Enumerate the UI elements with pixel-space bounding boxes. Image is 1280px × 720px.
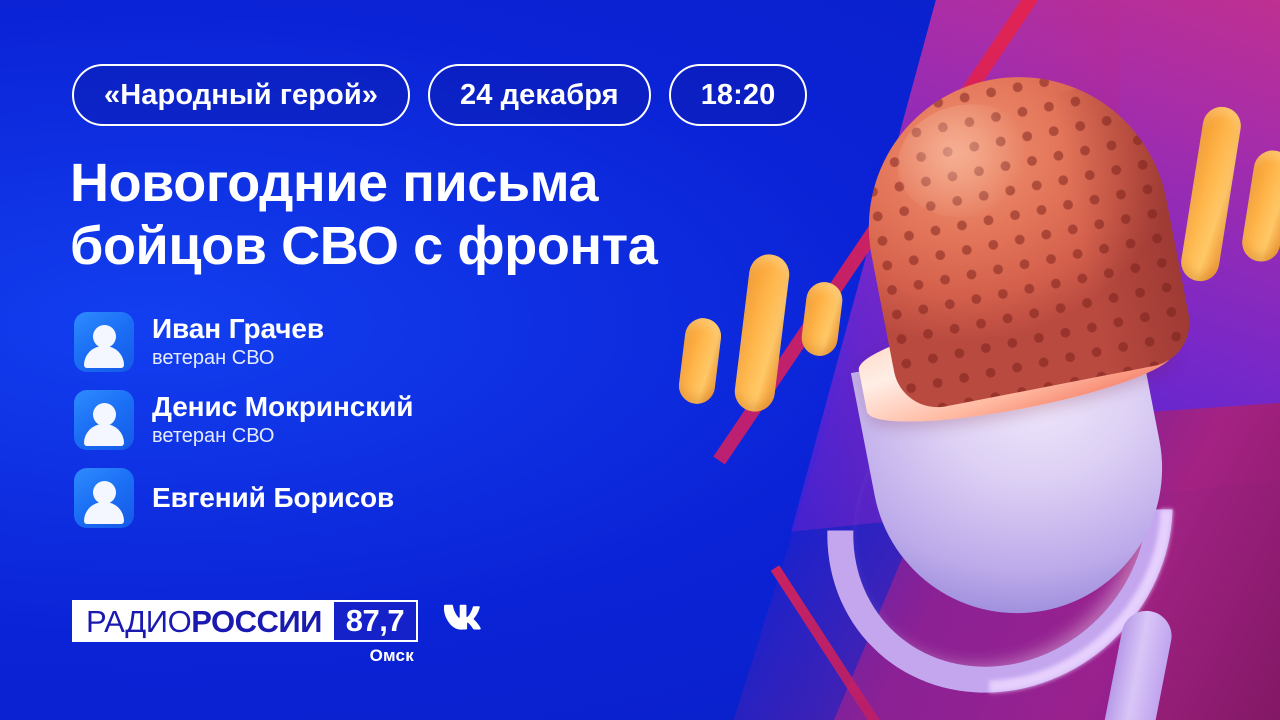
radio-rossii-logo: РАДИОРОССИИ 87,7 Омск	[72, 600, 418, 642]
user-avatar-icon	[74, 468, 134, 528]
logo-frequency: 87,7	[332, 600, 418, 642]
logo-word-bold: РОССИИ	[191, 606, 322, 637]
user-avatar-icon	[74, 390, 134, 450]
logo-city: Омск	[370, 646, 414, 666]
avatar-torso	[84, 502, 124, 524]
vk-icon[interactable]	[444, 602, 490, 637]
list-item: Иван Грачев ветеран СВО	[74, 312, 413, 372]
speaker-name: Иван Грачев	[152, 313, 324, 344]
speaker-text: Иван Грачев ветеран СВО	[152, 313, 324, 370]
speaker-list: Иван Грачев ветеран СВО Денис Мокринский…	[74, 312, 413, 528]
speaker-name: Денис Мокринский	[152, 391, 413, 422]
avatar-torso	[84, 424, 124, 446]
speaker-text: Евгений Борисов	[152, 482, 394, 513]
avatar-head	[93, 325, 116, 348]
logo-wordmark: РАДИОРОССИИ	[74, 602, 332, 640]
microphone-head	[843, 51, 1197, 415]
logo-word-thin: РАДИО	[86, 606, 191, 637]
logo-bar: РАДИОРОССИИ 87,7	[72, 600, 418, 642]
page-title: Новогодние письма бойцов СВО с фронта	[70, 152, 710, 277]
badge-time: 18:20	[669, 64, 808, 126]
speaker-role: ветеран СВО	[152, 346, 324, 371]
badge-program: «Народный герой»	[72, 64, 410, 126]
speaker-name: Евгений Борисов	[152, 482, 394, 513]
speaker-text: Денис Мокринский ветеран СВО	[152, 391, 413, 448]
branding-row: РАДИОРОССИИ 87,7 Омск	[72, 600, 490, 642]
avatar-head	[93, 481, 116, 504]
badge-date: 24 декабря	[428, 64, 651, 126]
promo-poster: «Народный герой» 24 декабря 18:20 Нового…	[0, 0, 1280, 720]
list-item: Евгений Борисов	[74, 468, 413, 528]
user-avatar-icon	[74, 312, 134, 372]
headline-line-2: бойцов СВО с фронта	[70, 215, 710, 278]
speaker-role: ветеран СВО	[152, 424, 413, 449]
list-item: Денис Мокринский ветеран СВО	[74, 390, 413, 450]
badge-row: «Народный герой» 24 декабря 18:20	[72, 64, 807, 126]
avatar-torso	[84, 346, 124, 368]
headline-line-1: Новогодние письма	[70, 152, 710, 215]
avatar-head	[93, 403, 116, 426]
content-column: «Народный герой» 24 декабря 18:20 Нового…	[0, 0, 720, 720]
